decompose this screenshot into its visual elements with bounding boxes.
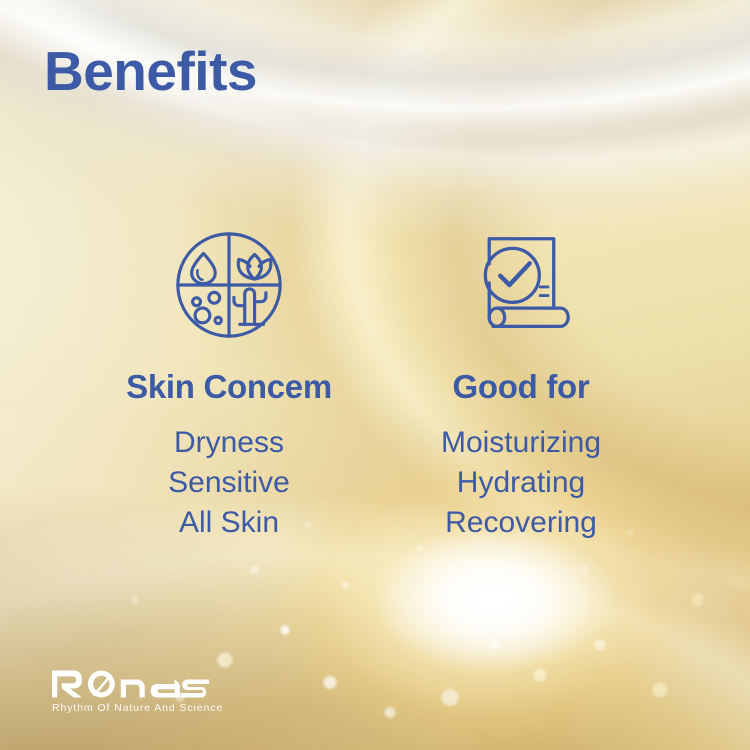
benefit-heading-good-for: Good for bbox=[453, 370, 590, 403]
checklist-scroll-icon bbox=[469, 226, 573, 344]
list-item: Dryness bbox=[168, 423, 290, 463]
benefit-column-skin-concern: Skin Concem Dryness Sensitive All Skin bbox=[83, 222, 375, 543]
benefit-heading-skin-concern: Skin Concem bbox=[126, 370, 332, 403]
list-item: All Skin bbox=[168, 503, 290, 543]
brand-tagline: Rhythm Of Nature And Science bbox=[52, 702, 212, 714]
list-item: Moisturizing bbox=[441, 423, 601, 463]
list-item: Hydrating bbox=[441, 463, 601, 503]
brand-logo: Rhythm Of Nature And Science bbox=[52, 669, 212, 714]
benefit-list-skin-concern: Dryness Sensitive All Skin bbox=[168, 423, 290, 543]
benefit-column-good-for: Good for Moisturizing Hydrating Recoveri… bbox=[375, 222, 667, 543]
skin-concern-quadrant-icon bbox=[170, 226, 288, 344]
list-item: Sensitive bbox=[168, 463, 290, 503]
benefit-list-good-for: Moisturizing Hydrating Recovering bbox=[441, 423, 601, 543]
benefits-poster: Benefits bbox=[0, 0, 750, 750]
page-title: Benefits bbox=[44, 44, 257, 99]
benefits-columns: Skin Concem Dryness Sensitive All Skin bbox=[0, 222, 750, 543]
good-for-icon-wrap bbox=[469, 222, 573, 348]
poster-content: Benefits bbox=[0, 0, 750, 750]
skin-concern-icon-wrap bbox=[170, 222, 288, 348]
ronas-wordmark-icon bbox=[52, 669, 212, 699]
list-item: Recovering bbox=[441, 503, 601, 543]
